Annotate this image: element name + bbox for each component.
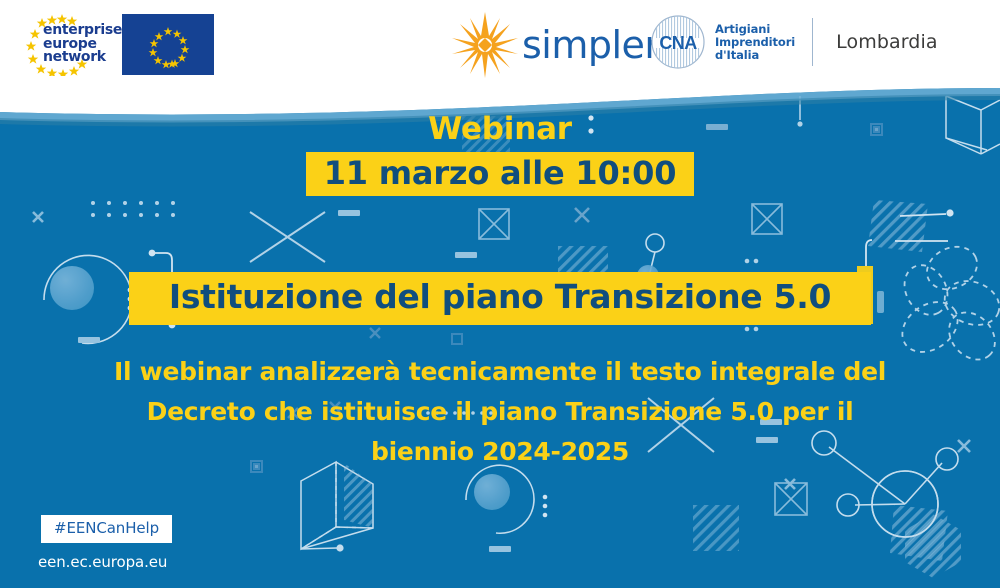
main-content: Webinar 11 marzo alle 10:00 Istituzione … (0, 0, 1000, 588)
hashtag-badge: #EENCanHelp (41, 515, 172, 543)
webinar-kicker: Webinar (0, 111, 1000, 147)
title-row: Istituzione del piano Transizione 5.0 (0, 272, 1000, 325)
webinar-description: Il webinar analizzerà tecnicamente il te… (100, 352, 900, 472)
page-title: Istituzione del piano Transizione 5.0 (129, 272, 871, 325)
website-url: een.ec.europa.eu (38, 553, 167, 571)
webinar-datetime: 11 marzo alle 10:00 (306, 152, 695, 196)
webinar-banner: enterprise europe network (0, 0, 1000, 588)
datetime-row: 11 marzo alle 10:00 (0, 152, 1000, 196)
